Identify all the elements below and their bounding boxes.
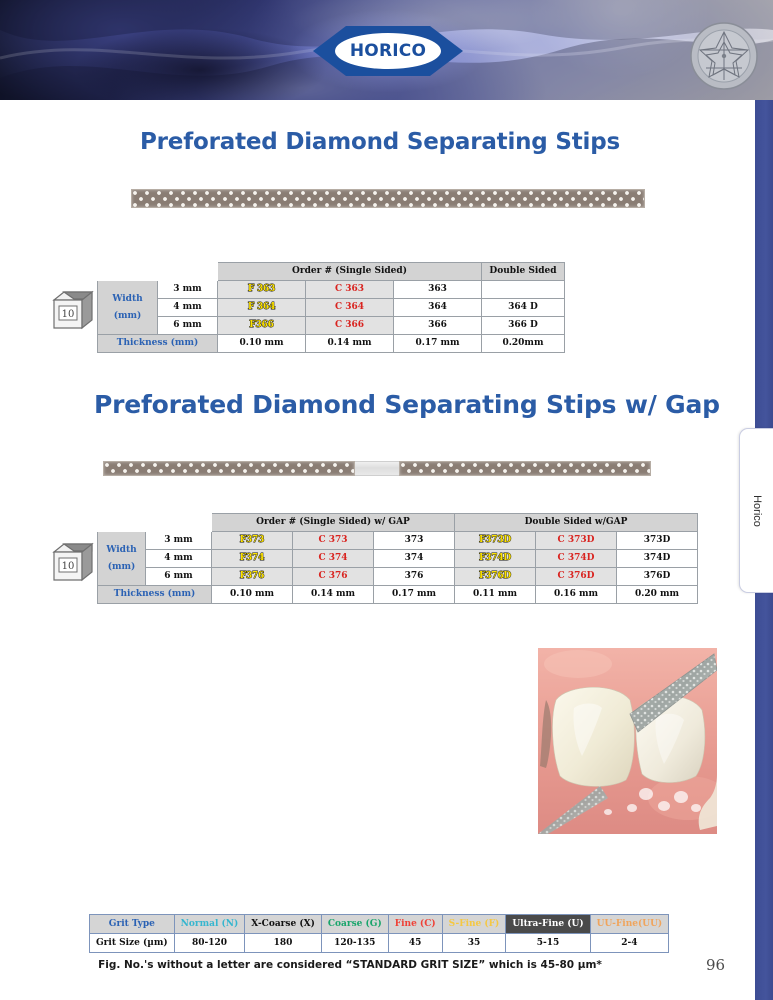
spacer-cell xyxy=(158,263,218,281)
grit-type-x-coarse: X-Coarse (X) xyxy=(245,915,322,934)
cell-width: 3 mm xyxy=(146,532,212,550)
grit-size-normal: 80-120 xyxy=(174,934,245,953)
cell-order-cd: C 374D xyxy=(536,550,617,568)
section-title-separating-stips: Preforated Diamond Separating Stips xyxy=(140,129,620,155)
spec-table-separating-stips: Order # (Single Sided) Double Sided Widt… xyxy=(97,262,565,353)
cell-thickness: 0.20 mm xyxy=(617,586,698,604)
grit-size-fine: 45 xyxy=(388,934,442,953)
cell-order-c: C 374 xyxy=(293,550,374,568)
pack-quantity-box-icon: 10 xyxy=(52,286,94,334)
spacer-cell xyxy=(98,263,158,281)
grit-type-ultra-fine: Ultra-Fine (U) xyxy=(506,915,590,934)
cell-order-f: F374 xyxy=(212,550,293,568)
cell-order-c: C 364 xyxy=(306,299,394,317)
cell-thickness: 0.10 mm xyxy=(218,335,306,353)
cell-order-c: C 363 xyxy=(306,281,394,299)
cell-order-n: 366 xyxy=(394,317,482,335)
cell-order-f: F 363 xyxy=(218,281,306,299)
group-header-single-sided: Order # (Single Sided) xyxy=(218,263,482,281)
cell-width: 6 mm xyxy=(158,317,218,335)
cell-order-cd: C 376D xyxy=(536,568,617,586)
cell-order-nd: 373D xyxy=(617,532,698,550)
table-row: Width (mm) 3 mm F373 C 373 373 F373D C 3… xyxy=(98,532,698,550)
table-row: Width (mm) 3 mm F 363 C 363 363 xyxy=(98,281,565,299)
cell-order-nd: 376D xyxy=(617,568,698,586)
group-header-double-sided: Double Sided xyxy=(482,263,565,281)
grit-type-row-label: Grit Type xyxy=(90,915,175,934)
product-image-perforated-strip xyxy=(131,189,645,208)
cell-thickness: 0.14 mm xyxy=(293,586,374,604)
grit-header-row: Grit Type Normal (N) X-Coarse (X) Coarse… xyxy=(90,915,669,934)
spacer-cell xyxy=(146,514,212,532)
certified-product-emblem-icon xyxy=(688,20,760,92)
cell-order-f: F373 xyxy=(212,532,293,550)
cell-thickness: 0.20mm xyxy=(482,335,565,353)
cell-order-c: C 373 xyxy=(293,532,374,550)
grit-size-coarse: 120-135 xyxy=(321,934,388,953)
width-label-unit: (mm) xyxy=(108,562,136,572)
cell-order-n: 363 xyxy=(394,281,482,299)
cell-width: 3 mm xyxy=(158,281,218,299)
horico-logo: HORICO xyxy=(313,26,463,76)
group-header-double-sided-gap: Double Sided w/GAP xyxy=(455,514,698,532)
cell-order-d: 364 D xyxy=(482,299,565,317)
grit-size-x-coarse: 180 xyxy=(245,934,322,953)
table-group-header-row: Order # (Single Sided) w/ GAP Double Sid… xyxy=(98,514,698,532)
cell-order-c: C 376 xyxy=(293,568,374,586)
clinical-application-photo xyxy=(538,648,717,834)
width-row-label: Width (mm) xyxy=(98,532,146,586)
grit-type-uu-fine: UU-Fine(UU) xyxy=(590,915,669,934)
side-tab-label: Horico xyxy=(751,495,763,527)
svg-text:10: 10 xyxy=(62,309,75,320)
cell-order-n: 376 xyxy=(374,568,455,586)
grit-size-s-fine: 35 xyxy=(442,934,506,953)
standard-grit-size-footnote: Fig. No.'s without a letter are consider… xyxy=(0,959,700,971)
cell-thickness: 0.16 mm xyxy=(536,586,617,604)
svg-text:10: 10 xyxy=(62,561,75,572)
grit-type-coarse: Coarse (G) xyxy=(321,915,388,934)
cell-width: 4 mm xyxy=(158,299,218,317)
cell-order-f: F376 xyxy=(212,568,293,586)
cell-thickness: 0.17 mm xyxy=(394,335,482,353)
grit-size-uu-fine: 2-4 xyxy=(590,934,669,953)
table-group-header-row: Order # (Single Sided) Double Sided xyxy=(98,263,565,281)
cell-order-cd: C 373D xyxy=(536,532,617,550)
cell-thickness: 0.17 mm xyxy=(374,586,455,604)
group-header-single-sided-gap: Order # (Single Sided) w/ GAP xyxy=(212,514,455,532)
cell-order-n: 373 xyxy=(374,532,455,550)
cell-order-fd: F373D xyxy=(455,532,536,550)
spec-table-separating-stips-gap: Order # (Single Sided) w/ GAP Double Sid… xyxy=(97,513,698,604)
product-image-gap-region xyxy=(355,461,399,476)
cell-order-d xyxy=(482,281,565,299)
cell-thickness: 0.10 mm xyxy=(212,586,293,604)
page-header-banner: HORICO xyxy=(0,0,773,100)
table-row: 6 mm F376 C 376 376 F376D C 376D 376D xyxy=(98,568,698,586)
grit-size-ultra-fine: 5-15 xyxy=(506,934,590,953)
grit-size-row-label: Grit Size (µm) xyxy=(90,934,175,953)
cell-order-c: C 366 xyxy=(306,317,394,335)
table-thickness-row: Thickness (mm) 0.10 mm 0.14 mm 0.17 mm 0… xyxy=(98,335,565,353)
thickness-row-label: Thickness (mm) xyxy=(98,586,212,604)
grit-type-normal: Normal (N) xyxy=(174,915,245,934)
table-thickness-row: Thickness (mm) 0.10 mm 0.14 mm 0.17 mm 0… xyxy=(98,586,698,604)
width-label-text: Width xyxy=(112,294,142,304)
product-image-gapped-strip-right xyxy=(399,461,651,476)
cell-order-f: F366 xyxy=(218,317,306,335)
cell-order-f: F 364 xyxy=(218,299,306,317)
pack-quantity-box-icon: 10 xyxy=(52,538,94,586)
cell-thickness: 0.14 mm xyxy=(306,335,394,353)
table-row: 6 mm F366 C 366 366 366 D xyxy=(98,317,565,335)
cell-thickness: 0.11 mm xyxy=(455,586,536,604)
product-image-gapped-strip-left xyxy=(103,461,355,476)
cell-order-fd: F376D xyxy=(455,568,536,586)
logo-brand-text: HORICO xyxy=(335,33,441,69)
width-label-unit: (mm) xyxy=(114,311,142,321)
cell-order-nd: 374D xyxy=(617,550,698,568)
page-number: 96 xyxy=(706,956,725,974)
grit-type-s-fine: S-Fine (F) xyxy=(442,915,506,934)
cell-order-n: 374 xyxy=(374,550,455,568)
spacer-cell xyxy=(98,514,146,532)
cell-width: 6 mm xyxy=(146,568,212,586)
table-row: 4 mm F 364 C 364 364 364 D xyxy=(98,299,565,317)
cell-order-fd: F374D xyxy=(455,550,536,568)
width-row-label: Width (mm) xyxy=(98,281,158,335)
grit-size-reference-table: Grit Type Normal (N) X-Coarse (X) Coarse… xyxy=(89,914,669,953)
table-row: 4 mm F374 C 374 374 F374D C 374D 374D xyxy=(98,550,698,568)
side-tab-horico[interactable]: Horico xyxy=(739,428,773,593)
width-label-text: Width xyxy=(106,545,136,555)
thickness-row-label: Thickness (mm) xyxy=(98,335,218,353)
section-title-separating-stips-gap: Preforated Diamond Separating Stips w/ G… xyxy=(94,390,720,419)
cell-order-n: 364 xyxy=(394,299,482,317)
grit-size-row: Grit Size (µm) 80-120 180 120-135 45 35 … xyxy=(90,934,669,953)
cell-width: 4 mm xyxy=(146,550,212,568)
cell-order-d: 366 D xyxy=(482,317,565,335)
grit-type-fine: Fine (C) xyxy=(388,915,442,934)
